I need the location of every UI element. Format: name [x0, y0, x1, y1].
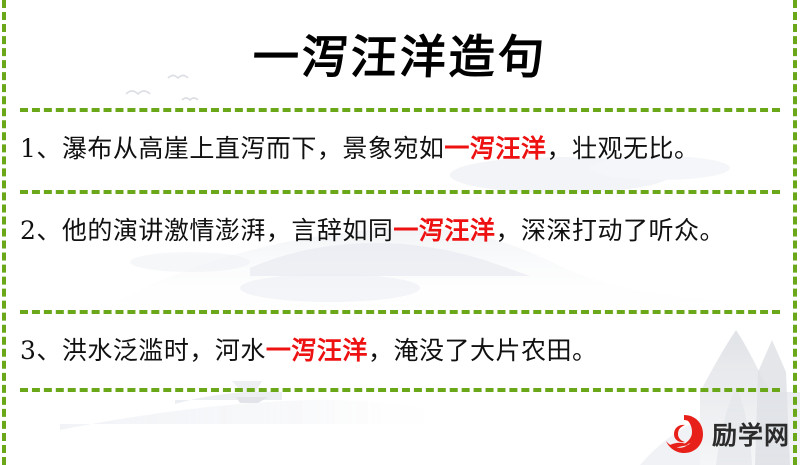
worksheet-page: 一泻汪洋造句 1、瀑布从高崖上直泻而下，景象宛如一泻汪洋，壮观无比。 2、他的演… — [0, 0, 800, 465]
site-logo-text: 励学网 — [712, 416, 790, 452]
sentence-index: 2、 — [20, 216, 62, 245]
separator-line-4 — [20, 388, 780, 392]
sentence-text-before: 瀑布从高崖上直泻而下，景象宛如 — [62, 134, 445, 163]
sentence-item: 2、他的演讲激情澎湃，言辞如同一泻汪洋，深深打动了听众。 — [20, 208, 780, 254]
separator-line-1 — [20, 108, 780, 112]
separator-line-2 — [20, 190, 780, 194]
red-swirl-flame-icon — [662, 412, 706, 456]
title-region: 一泻汪洋造句 — [0, 0, 800, 108]
sentence-item: 1、瀑布从高崖上直泻而下，景象宛如一泻汪洋，壮观无比。 — [20, 126, 780, 172]
sentence-text-after: ，淹没了大片农田。 — [368, 336, 598, 365]
sentence-text-after: ，壮观无比。 — [546, 134, 699, 163]
sentence-text-before: 他的演讲激情澎湃，言辞如同 — [62, 216, 394, 245]
idiom-highlight: 一泻汪洋 — [266, 336, 368, 365]
sentence-item: 3、洪水泛滥时，河水一泻汪洋，淹没了大片农田。 — [20, 328, 780, 374]
sentence-text-before: 洪水泛滥时，河水 — [62, 336, 266, 365]
frame-border-left — [2, 0, 6, 465]
idiom-highlight: 一泻汪洋 — [393, 216, 495, 245]
frame-border-right — [793, 0, 797, 465]
sentence-text-after: ，深深打动了听众。 — [495, 216, 725, 245]
sentence-index: 1、 — [20, 134, 62, 163]
page-title: 一泻汪洋造句 — [251, 21, 548, 87]
idiom-highlight: 一泻汪洋 — [444, 134, 546, 163]
separator-line-3 — [20, 310, 780, 314]
sentence-index: 3、 — [20, 336, 62, 365]
site-logo: 励学网 — [662, 412, 790, 456]
